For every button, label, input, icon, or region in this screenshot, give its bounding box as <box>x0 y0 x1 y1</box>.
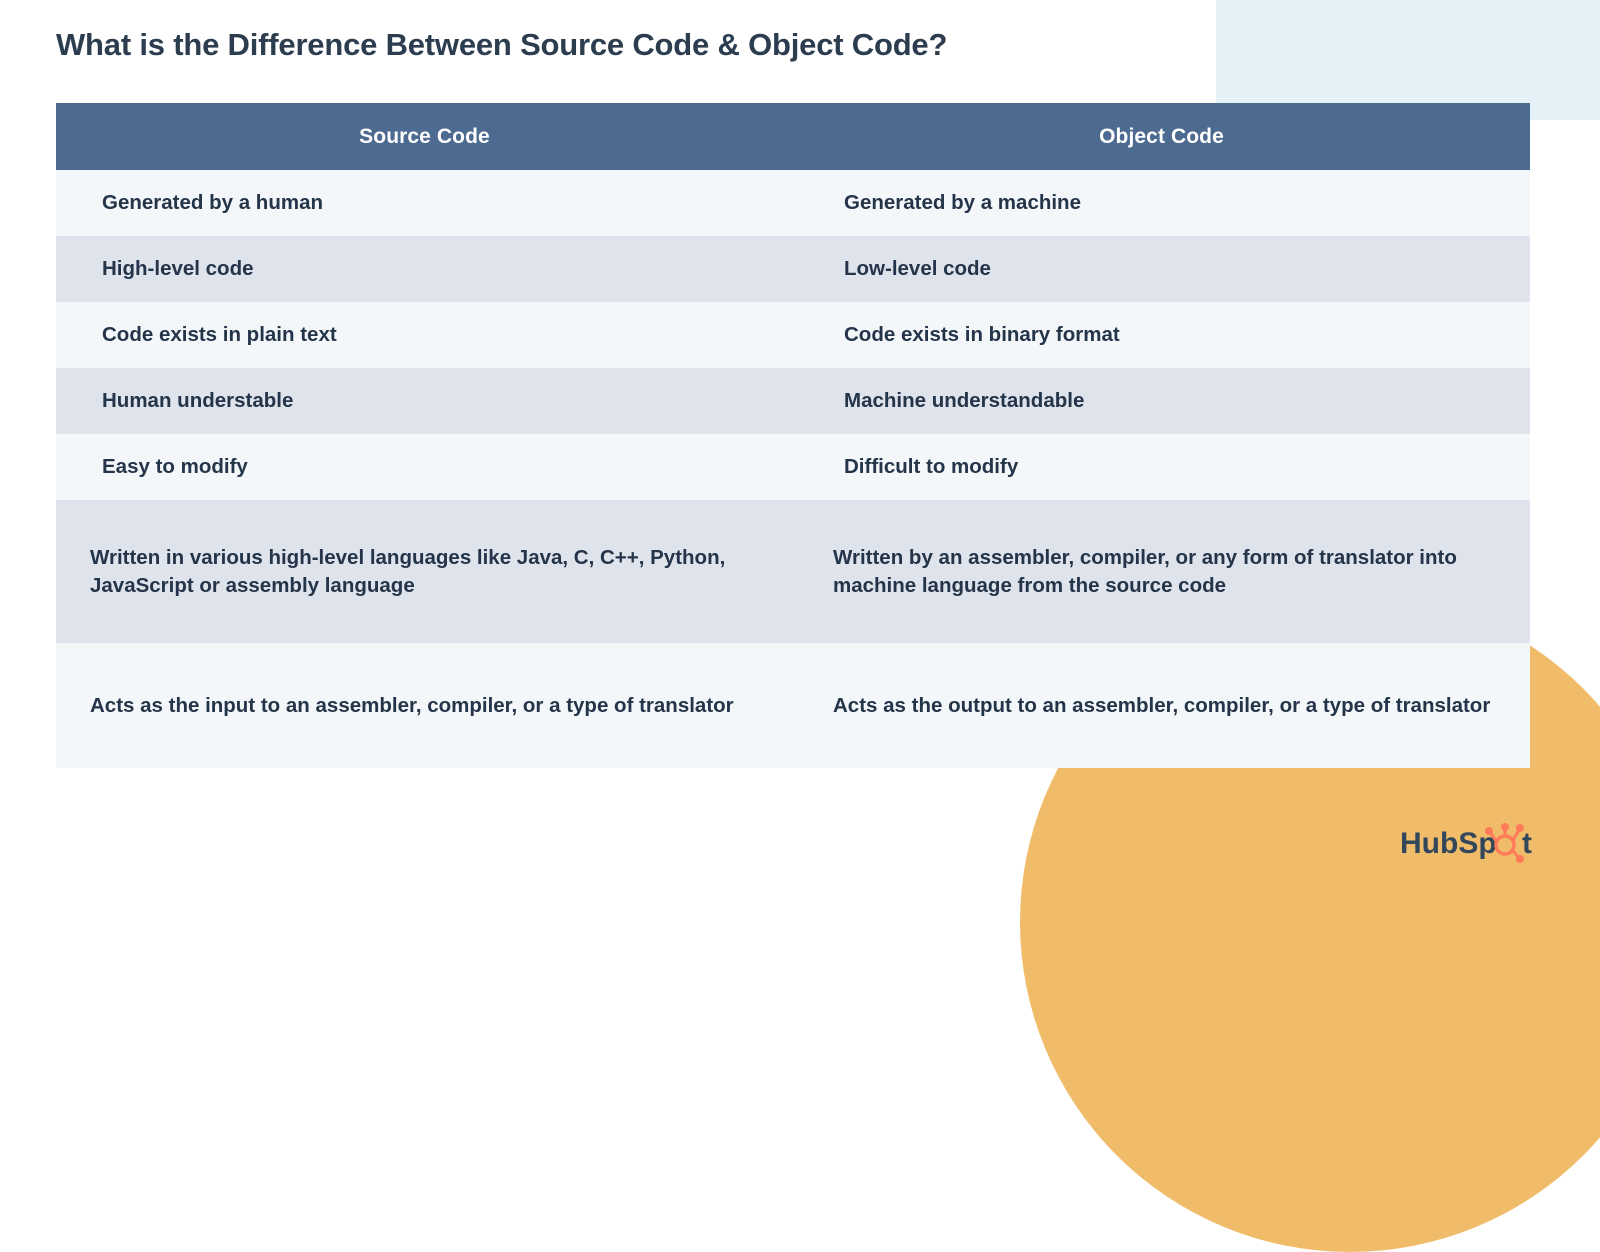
table-header-object-code: Object Code <box>793 103 1530 170</box>
cell-source-code: Code exists in plain text <box>56 302 788 368</box>
table-row: Generated by a human Generated by a mach… <box>56 170 1530 236</box>
cell-object-code: Code exists in binary format <box>788 302 1530 368</box>
cell-source-code: High-level code <box>56 236 788 302</box>
hubspot-wordmark-right: t <box>1522 827 1532 860</box>
table-header-source-code: Source Code <box>56 103 793 170</box>
table-row: Easy to modify Difficult to modify <box>56 434 1530 500</box>
cell-source-code: Generated by a human <box>56 170 788 236</box>
cell-object-code: Written by an assembler, compiler, or an… <box>787 500 1530 643</box>
page-title: What is the Difference Between Source Co… <box>56 27 947 63</box>
table-row: Written in various high-level languages … <box>56 500 1530 643</box>
decorative-blue-rectangle <box>1216 0 1600 120</box>
table-row: Acts as the input to an assembler, compi… <box>56 643 1530 768</box>
table-header-row: Source Code Object Code <box>56 103 1530 170</box>
hubspot-logo: HubSp t <box>1400 820 1550 868</box>
table-row: Code exists in plain text Code exists in… <box>56 302 1530 368</box>
cell-source-code: Human understable <box>56 368 788 434</box>
cell-source-code: Easy to modify <box>56 434 788 500</box>
cell-source-code: Written in various high-level languages … <box>56 500 787 643</box>
cell-object-code: Low-level code <box>788 236 1530 302</box>
cell-object-code: Machine understandable <box>788 368 1530 434</box>
table-row: Human understable Machine understandable <box>56 368 1530 434</box>
hubspot-logo-svg: HubSp t <box>1400 820 1550 868</box>
cell-object-code: Difficult to modify <box>788 434 1530 500</box>
table-row: High-level code Low-level code <box>56 236 1530 302</box>
comparison-table: Source Code Object Code Generated by a h… <box>56 103 1530 768</box>
cell-object-code: Acts as the output to an assembler, comp… <box>787 643 1530 768</box>
hubspot-wordmark-left: HubSp <box>1400 827 1497 860</box>
table-body: Generated by a human Generated by a mach… <box>56 170 1530 768</box>
cell-source-code: Acts as the input to an assembler, compi… <box>56 643 787 768</box>
cell-object-code: Generated by a machine <box>788 170 1530 236</box>
